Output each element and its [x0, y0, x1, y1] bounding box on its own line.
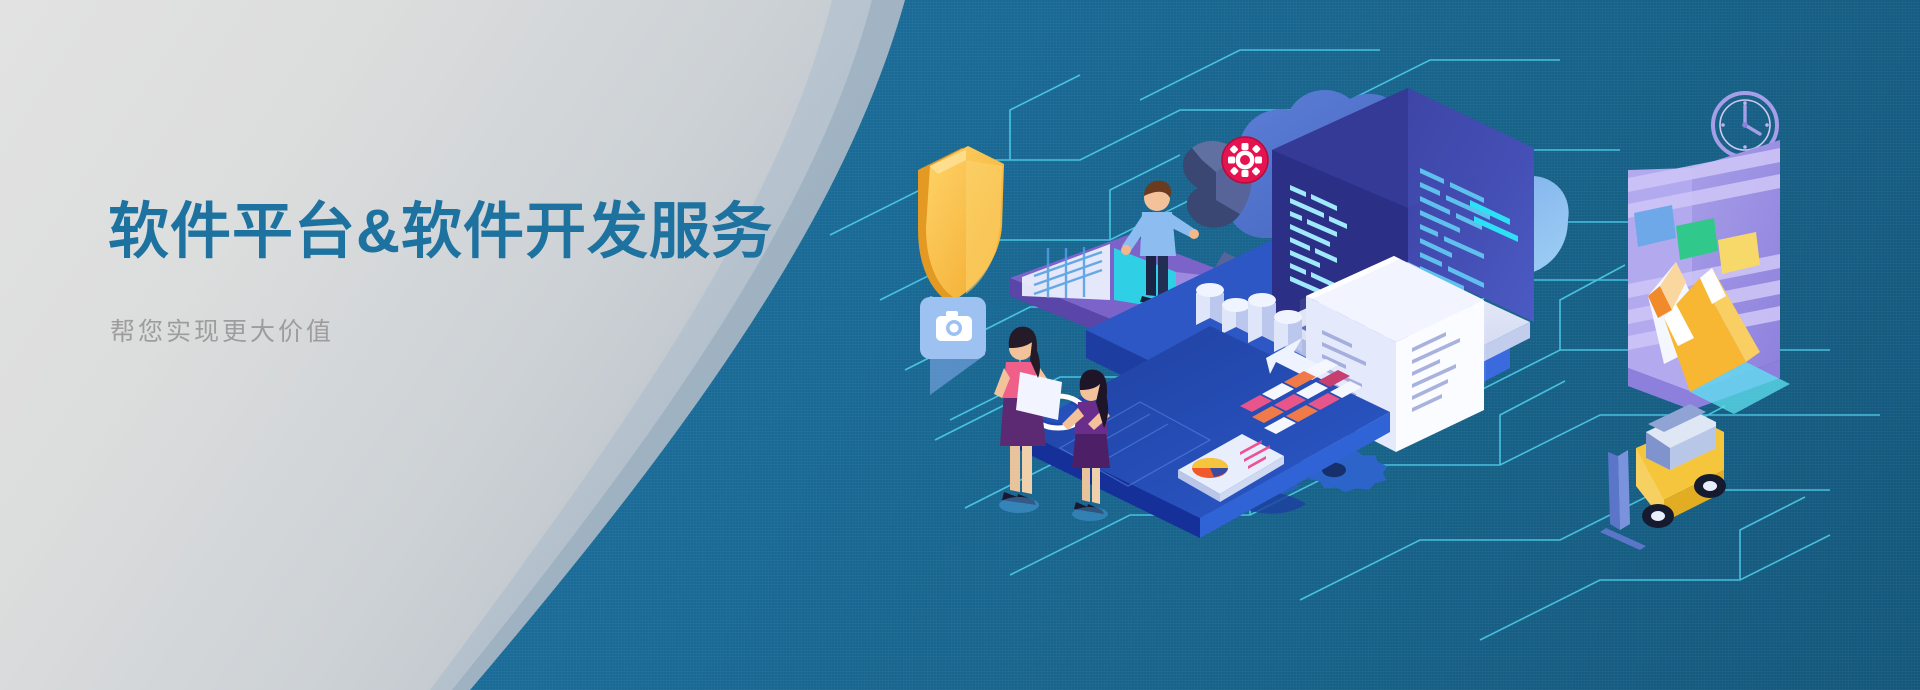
hero-banner: 软件平台&软件开发服务 帮您实现更大价值	[0, 0, 1920, 690]
page-title: 软件平台&软件开发服务	[108, 196, 888, 268]
hero-text-block: 软件平台&软件开发服务 帮您实现更大价值	[108, 196, 888, 348]
page-subtitle: 帮您实现更大价值	[110, 312, 888, 348]
